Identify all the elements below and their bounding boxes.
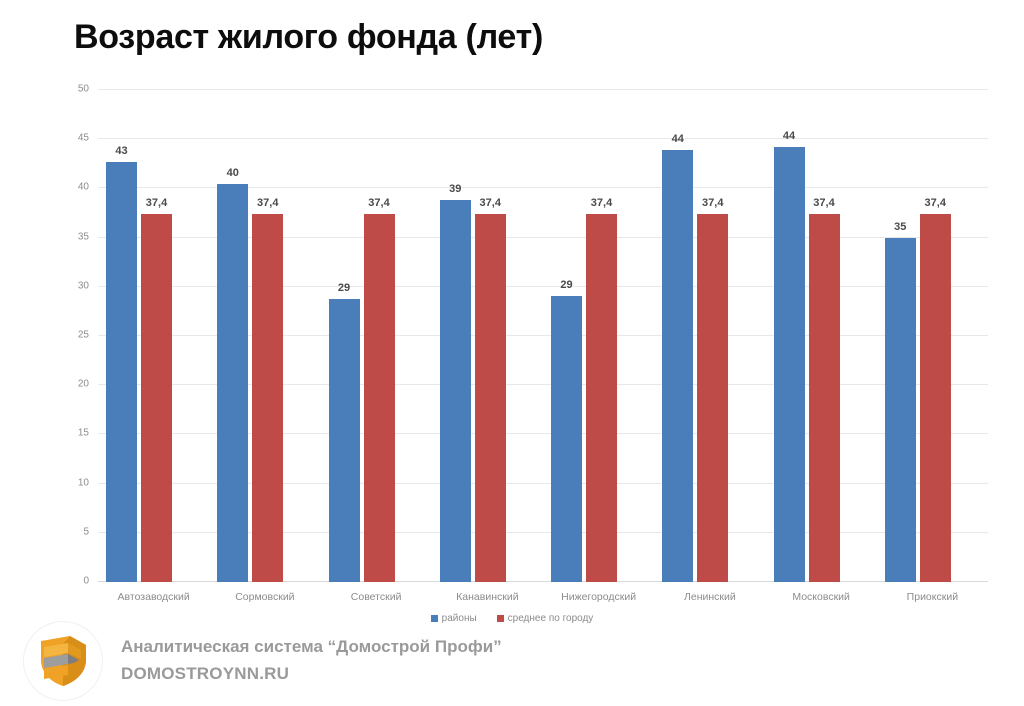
x-axis-tick-label: Ленинский <box>684 591 736 603</box>
bar-value-label: 37,4 <box>368 197 389 209</box>
bar-0-1[interactable]: 40 <box>217 184 248 582</box>
bar-1-4[interactable]: 37,4 <box>586 214 617 582</box>
y-axis-tick-label: 25 <box>78 330 89 341</box>
y-axis-tick-label: 45 <box>78 133 89 144</box>
x-axis-tick-label: Советский <box>351 591 402 603</box>
bar-value-label: 37,4 <box>925 197 946 209</box>
bar-1-7[interactable]: 37,4 <box>920 214 951 582</box>
bar-0-5[interactable]: 44 <box>662 150 693 582</box>
x-axis-tick-label: Канавинский <box>456 591 518 603</box>
legend-item-1[interactable]: среднее по городу <box>497 613 594 624</box>
bar-value-label: 29 <box>560 279 572 291</box>
bar-1-1[interactable]: 37,4 <box>252 214 283 582</box>
bar-value-label: 44 <box>783 130 795 142</box>
bar-value-label: 29 <box>338 282 350 294</box>
bar-value-label: 40 <box>227 167 239 179</box>
footer-website-line: DOMOSTROYNN.RU <box>121 664 502 684</box>
bar-value-label: 37,4 <box>257 197 278 209</box>
legend-swatch-icon <box>431 615 438 622</box>
bar-group: 4037,4Сормовский <box>209 90 320 582</box>
page-title: Возраст жилого фонда (лет) <box>74 18 543 57</box>
bar-group: 4437,4Ленинский <box>654 90 765 582</box>
bar-value-label: 44 <box>672 133 684 145</box>
bar-0-2[interactable]: 29 <box>329 299 360 582</box>
bar-group: 2937,4Советский <box>321 90 432 582</box>
legend-label: среднее по городу <box>508 613 594 624</box>
bar-group: 4337,4Автозаводский <box>98 90 209 582</box>
y-axis-tick-label: 50 <box>78 84 89 95</box>
x-axis-tick-label: Приокский <box>907 591 958 603</box>
footer-company-line: Аналитическая система “Домострой Профи” <box>121 637 502 657</box>
y-axis-tick-label: 20 <box>78 379 89 390</box>
y-axis-tick-label: 15 <box>78 428 89 439</box>
bar-0-0[interactable]: 43 <box>106 162 137 582</box>
bar-value-label: 43 <box>115 145 127 157</box>
bar-0-7[interactable]: 35 <box>885 238 916 582</box>
domostroy-shield-logo-icon <box>24 622 102 700</box>
bar-value-label: 39 <box>449 183 461 195</box>
bar-0-6[interactable]: 44 <box>774 147 805 582</box>
y-axis-tick-label: 35 <box>78 231 89 242</box>
bar-value-label: 37,4 <box>813 197 834 209</box>
bar-value-label: 37,4 <box>591 197 612 209</box>
bar-value-label: 37,4 <box>480 197 501 209</box>
y-axis-tick-label: 0 <box>83 576 89 587</box>
x-axis-tick-label: Нижегородский <box>561 591 636 603</box>
chart-plot-area: 051015202530354045504337,4Автозаводский4… <box>98 90 988 582</box>
y-axis-tick-label: 30 <box>78 280 89 291</box>
x-axis-tick-label: Автозаводский <box>118 591 190 603</box>
bar-group: 2937,4Нижегородский <box>543 90 654 582</box>
bar-1-5[interactable]: 37,4 <box>697 214 728 582</box>
bar-0-3[interactable]: 39 <box>440 200 471 582</box>
x-axis-tick-label: Московский <box>792 591 850 603</box>
y-axis-tick-label: 40 <box>78 182 89 193</box>
bar-value-label: 35 <box>894 221 906 233</box>
bar-1-2[interactable]: 37,4 <box>364 214 395 582</box>
y-axis-tick-label: 5 <box>83 526 89 537</box>
bar-0-4[interactable]: 29 <box>551 296 582 582</box>
bar-group: 3537,4Приокский <box>877 90 988 582</box>
y-axis-tick-label: 10 <box>78 477 89 488</box>
bar-value-label: 37,4 <box>146 197 167 209</box>
bar-group: 3937,4Канавинский <box>432 90 543 582</box>
bar-1-6[interactable]: 37,4 <box>809 214 840 582</box>
bar-group: 4437,4Московский <box>766 90 877 582</box>
x-axis-tick-label: Сормовский <box>235 591 294 603</box>
footer-text: Аналитическая система “Домострой Профи” … <box>121 637 502 686</box>
footer: Аналитическая система “Домострой Профи” … <box>24 622 502 700</box>
bar-1-3[interactable]: 37,4 <box>475 214 506 582</box>
bar-1-0[interactable]: 37,4 <box>141 214 172 582</box>
bar-value-label: 37,4 <box>702 197 723 209</box>
legend-swatch-icon <box>497 615 504 622</box>
